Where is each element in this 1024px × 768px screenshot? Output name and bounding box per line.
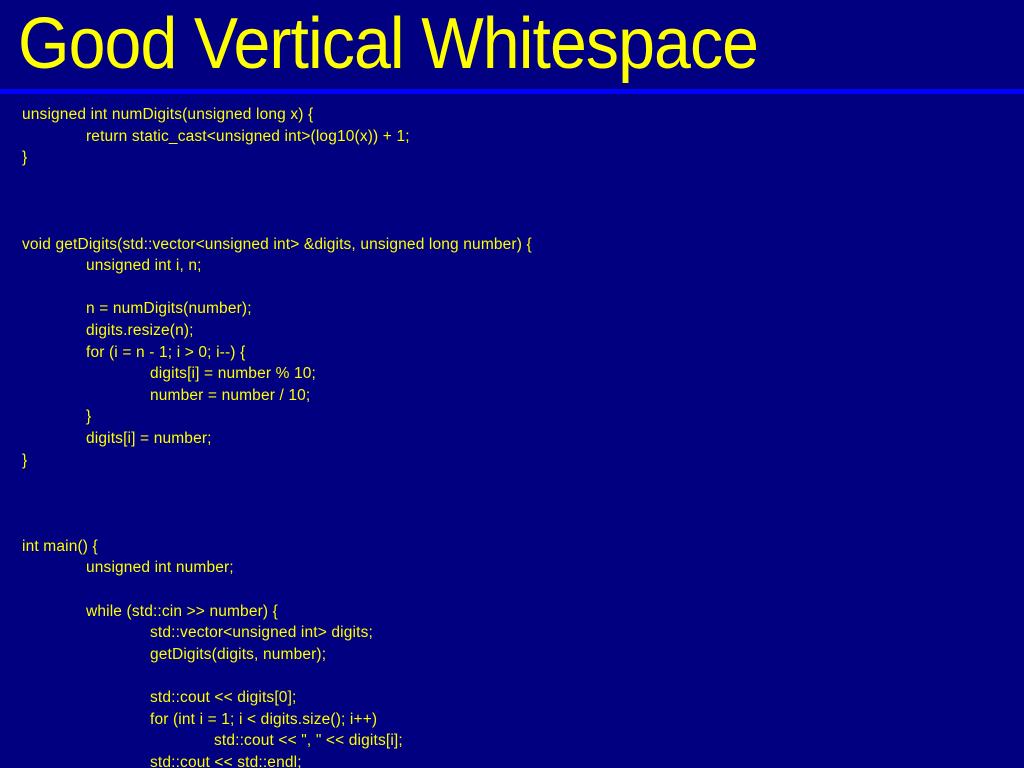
code-line-blank — [0, 212, 1024, 234]
code-line: digits.resize(n); — [0, 320, 1024, 342]
code-line: std::vector<unsigned int> digits; — [0, 622, 1024, 644]
title-divider-rule — [0, 89, 1024, 94]
code-line: n = numDigits(number); — [0, 298, 1024, 320]
code-line: return static_cast<unsigned int>(log10(x… — [0, 126, 1024, 148]
page-title: Good Vertical Whitespace — [18, 6, 758, 82]
code-line: unsigned int i, n; — [0, 255, 1024, 277]
code-block: unsigned int numDigits(unsigned long x) … — [0, 104, 1024, 768]
code-line: unsigned int numDigits(unsigned long x) … — [0, 104, 1024, 126]
code-line: void getDigits(std::vector<unsigned int>… — [0, 234, 1024, 256]
code-line-blank — [0, 169, 1024, 191]
code-line-blank — [0, 579, 1024, 601]
code-line: int main() { — [0, 536, 1024, 558]
code-line: std::cout << std::endl; — [0, 752, 1024, 768]
code-line: getDigits(digits, number); — [0, 644, 1024, 666]
code-line: digits[i] = number % 10; — [0, 363, 1024, 385]
code-line-blank — [0, 493, 1024, 515]
code-line-blank — [0, 277, 1024, 299]
code-line: for (i = n - 1; i > 0; i--) { — [0, 342, 1024, 364]
code-line: } — [0, 450, 1024, 472]
code-line-blank — [0, 190, 1024, 212]
code-line: std::cout << ", " << digits[i]; — [0, 730, 1024, 752]
code-line: number = number / 10; — [0, 385, 1024, 407]
code-line: unsigned int number; — [0, 557, 1024, 579]
slide-title-area: Good Vertical Whitespace — [0, 0, 1024, 90]
code-line: digits[i] = number; — [0, 428, 1024, 450]
code-line-blank — [0, 471, 1024, 493]
code-line: std::cout << digits[0]; — [0, 687, 1024, 709]
code-line: while (std::cin >> number) { — [0, 601, 1024, 623]
code-line: for (int i = 1; i < digits.size(); i++) — [0, 709, 1024, 731]
presentation-slide: Good Vertical Whitespace unsigned int nu… — [0, 0, 1024, 768]
code-line-blank — [0, 665, 1024, 687]
code-line: } — [0, 406, 1024, 428]
code-line: } — [0, 147, 1024, 169]
code-line-blank — [0, 514, 1024, 536]
